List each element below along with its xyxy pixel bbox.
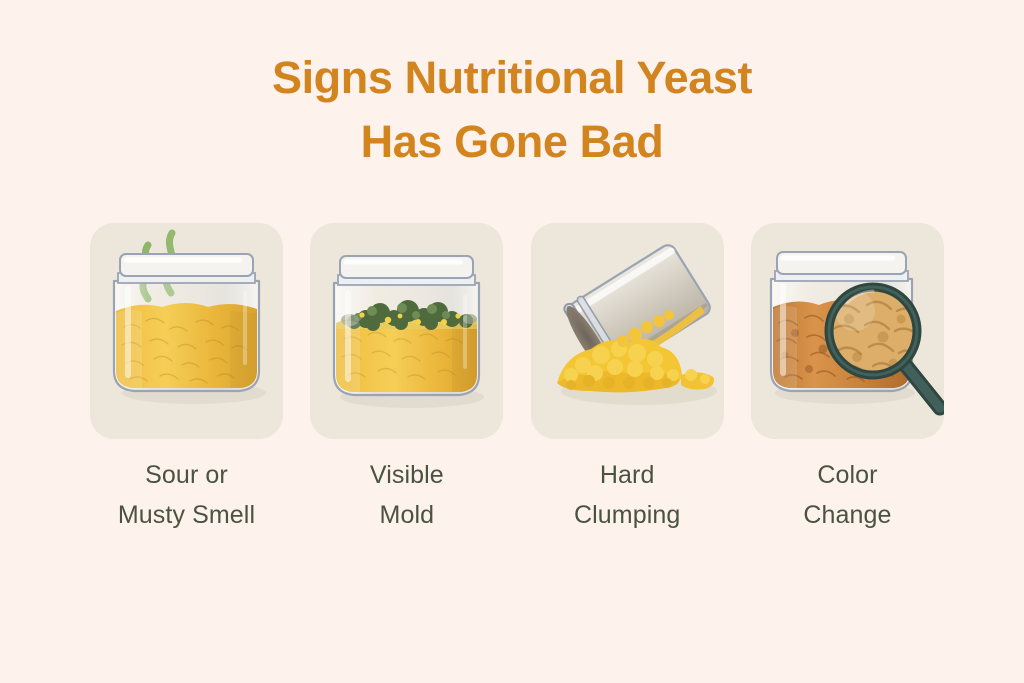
sign-card-hard-clumping: [531, 223, 724, 439]
jar-with-smell-wisps-icon: [90, 223, 283, 439]
title-line-1: Signs Nutritional Yeast: [0, 46, 1024, 110]
signs-card-row: [90, 223, 944, 439]
caption-line-2: Musty Smell: [90, 495, 283, 535]
caption-line-1: Visible: [310, 455, 503, 495]
caption-line-2: Change: [751, 495, 944, 535]
caption-line-1: Hard: [531, 455, 724, 495]
sign-card-color-change: [751, 223, 944, 439]
tipped-jar-with-clumps-icon: [531, 223, 724, 439]
caption-line-2: Clumping: [531, 495, 724, 535]
caption-line-1: Color: [751, 455, 944, 495]
caption-line-1: Sour or: [90, 455, 283, 495]
page-title: Signs Nutritional Yeast Has Gone Bad: [0, 46, 1024, 174]
jar-with-mold-icon: [310, 223, 503, 439]
caption-sour-or-musty-smell: Sour or Musty Smell: [90, 455, 283, 535]
infographic-root: Signs Nutritional Yeast Has Gone Bad: [0, 0, 1024, 683]
caption-color-change: Color Change: [751, 455, 944, 535]
sign-card-sour-or-musty-smell: [90, 223, 283, 439]
sign-card-visible-mold: [310, 223, 503, 439]
title-line-2: Has Gone Bad: [0, 110, 1024, 174]
jar-with-magnifier-icon: [751, 223, 944, 439]
signs-caption-row: Sour or Musty Smell Visible Mold Hard Cl…: [90, 455, 944, 535]
caption-visible-mold: Visible Mold: [310, 455, 503, 535]
caption-line-2: Mold: [310, 495, 503, 535]
caption-hard-clumping: Hard Clumping: [531, 455, 724, 535]
